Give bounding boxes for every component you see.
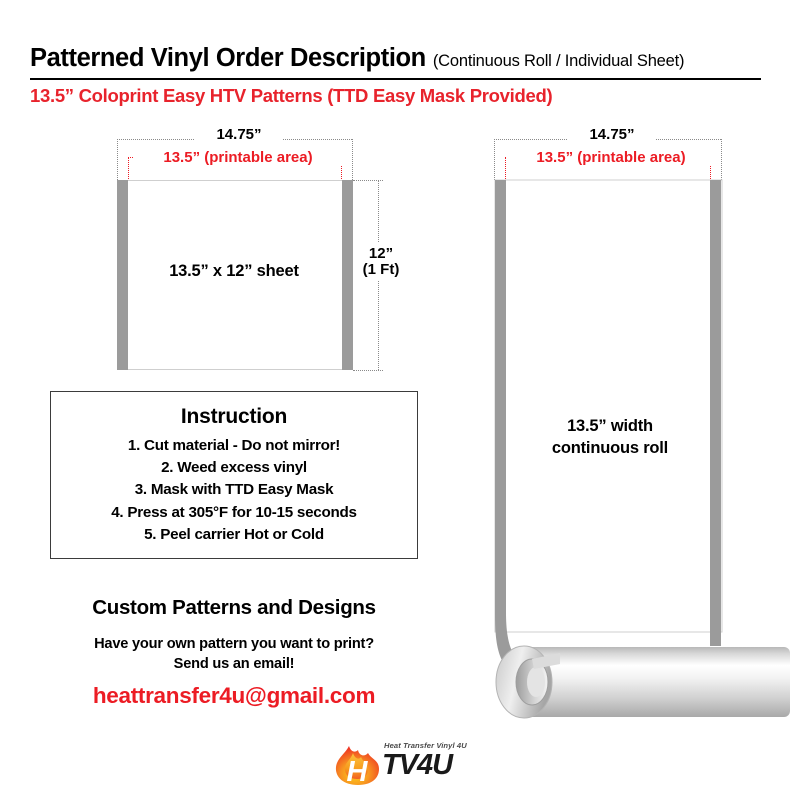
instruction-title: Instruction	[51, 405, 417, 429]
sheet-height-label: 12” (1 Ft)	[353, 243, 409, 281]
roll-caption-line1: 13.5” width	[508, 415, 712, 437]
page-title-parenthetical: (Continuous Roll / Individual Sheet)	[433, 52, 684, 71]
sheet-height-tick-bottom	[353, 370, 383, 371]
roll-caption: 13.5” width continuous roll	[508, 415, 712, 460]
instruction-step: 2. Weed excess vinyl	[51, 457, 417, 479]
product-subtitle: 13.5” Coloprint Easy HTV Patterns (TTD E…	[30, 85, 552, 107]
page-header: Patterned Vinyl Order Description (Conti…	[30, 44, 761, 73]
instruction-box: Instruction 1. Cut material - Do not mir…	[50, 391, 418, 559]
sheet-caption: 13.5” x 12” sheet	[128, 262, 340, 281]
roll-width-label: 14.75”	[568, 127, 656, 143]
contact-email[interactable]: heattransfer4u@gmail.com	[50, 683, 418, 709]
custom-patterns-line2: Send us an email!	[50, 654, 418, 674]
page-title: Patterned Vinyl Order Description	[30, 44, 426, 73]
flame-icon: H	[332, 743, 384, 787]
sheet-height-label-line1: 12”	[355, 246, 407, 262]
sheet-right-edge-bar	[342, 180, 353, 370]
instruction-step: 5. Peel carrier Hot or Cold	[51, 524, 417, 546]
title-row: Patterned Vinyl Order Description (Conti…	[30, 44, 761, 73]
sheet-left-edge-bar	[117, 180, 128, 370]
sheet-width-tick-right	[352, 139, 353, 180]
custom-patterns-title: Custom Patterns and Designs	[50, 596, 418, 620]
order-description-page: Patterned Vinyl Order Description (Conti…	[0, 0, 801, 800]
instruction-step: 4. Press at 305°F for 10-15 seconds	[51, 502, 417, 524]
instruction-step: 1. Cut material - Do not mirror!	[51, 435, 417, 457]
flame-letter-h: H	[347, 756, 369, 787]
sheet-width-label: 14.75”	[195, 127, 283, 143]
instruction-step: 3. Mask with TTD Easy Mask	[51, 479, 417, 501]
custom-patterns-line1: Have your own pattern you want to print?	[50, 634, 418, 654]
roll-caption-line2: continuous roll	[508, 437, 712, 459]
sheet-printable-tick-left	[128, 157, 129, 181]
sheet-height-label-line2: (1 Ft)	[355, 262, 407, 278]
htv4u-logo: H Heat Transfer Vinyl 4U TV4U	[332, 739, 482, 787]
logo-wordmark: TV4U	[382, 749, 452, 782]
sheet-printable-label: 13.5” (printable area)	[133, 150, 343, 166]
sheet-width-tick-left	[117, 139, 118, 180]
custom-patterns-text: Have your own pattern you want to print?…	[50, 634, 418, 674]
roll-printable-label: 13.5” (printable area)	[506, 150, 716, 166]
title-divider	[30, 78, 761, 80]
instruction-list: 1. Cut material - Do not mirror! 2. Weed…	[51, 435, 417, 546]
